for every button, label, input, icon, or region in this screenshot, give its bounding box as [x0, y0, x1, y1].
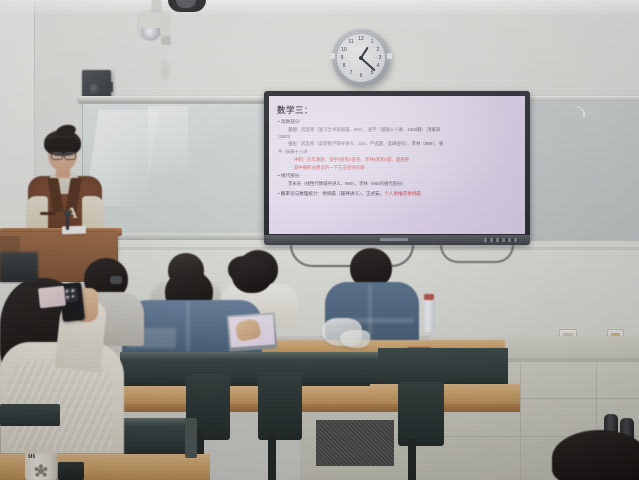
desk-row1-top [78, 386, 400, 406]
glasses-bridge [61, 154, 65, 155]
desk-row1-top-right [370, 384, 520, 406]
camera-knob [161, 36, 171, 45]
student-bottom-right-head [552, 430, 639, 480]
clock-numeral: 2 [374, 47, 382, 53]
plastic-bag-fold [340, 330, 370, 348]
slide-bullet-gailv: • 概率论与数理统计：余炳森（辅导讲义）、王式安，个人更推荐余炳森 [278, 191, 518, 197]
clock-numeral: 5 [368, 70, 376, 76]
presenter-pocket [40, 212, 56, 215]
clock-numeral: 10 [340, 47, 348, 53]
desk-row1-panel-highlight [120, 352, 380, 360]
tv-cable [440, 245, 514, 263]
whiteboard-hook-icon[interactable] [572, 105, 588, 119]
chair-leg [408, 438, 416, 480]
camera-lens-icon [64, 289, 69, 294]
desk-front-bracket [185, 418, 197, 458]
clock-numeral: 1 [368, 39, 376, 45]
equipment-box [0, 252, 38, 282]
clock-numeral: 6 [357, 73, 365, 79]
chair-back [398, 382, 444, 446]
slide-line: 宇（高数十八讲 [278, 149, 518, 155]
speaker-bracket [105, 82, 113, 92]
slide-line: 基础：武忠祥（复习全书基础篇、660）、张宇（基础十八讲、1000题）,汤家凤 [288, 127, 518, 133]
desk-mesh-basket [316, 420, 394, 466]
slide-title: 数学三： [277, 104, 518, 116]
bottle-cap [424, 294, 434, 300]
camera-lens-icon [71, 288, 76, 293]
presenter-fringe [46, 138, 79, 150]
water-bottle [423, 298, 435, 332]
whiteboard-right[interactable] [512, 101, 639, 241]
floor-seam [520, 362, 521, 480]
slide-line: 强化：武忠祥（高等数学辅导讲义、330、严选题、选填密码）、李林（880）、张 [288, 141, 518, 147]
slide-line: (1800) [278, 134, 518, 140]
clock-numeral: 11 [347, 39, 355, 45]
chair-back [258, 372, 302, 440]
clock-numeral: 8 [340, 63, 348, 69]
phone-screen-reflection [38, 286, 66, 309]
slide-bullet-xiandai: • 线代部分: [278, 173, 518, 179]
clock-mount-tab [387, 53, 392, 59]
camera-flash-icon [71, 295, 75, 299]
chair-front-back [58, 462, 84, 480]
glasses-icon [110, 276, 122, 284]
presentation-screen[interactable]: 数学三： • 高数部分: 基础：武忠祥（复习全书基础篇、660）、张宇（基础十八… [269, 96, 525, 234]
tumbler-graphic-icon [33, 464, 49, 478]
tv-brand-logo [380, 238, 408, 241]
desk-row1-edge-right [370, 404, 520, 412]
denim-seam [186, 302, 190, 352]
slide-bullet-gailv-highlight: 个人更推荐余炳森 [384, 191, 421, 196]
clock-mount-tab [330, 53, 335, 59]
wall-scuff [160, 60, 170, 80]
clock-numeral: 4 [374, 63, 382, 69]
clock-numeral: 12 [357, 36, 365, 42]
chair-leg [268, 432, 276, 480]
slide-content: 数学三： • 高数部分: 基础：武忠祥（复习全书基础篇、660）、张宇（基础十八… [269, 96, 525, 234]
tv-port-panel [484, 238, 518, 242]
microphone-head [64, 210, 71, 217]
clock-numeral: 7 [347, 70, 355, 76]
slide-bullet-gailv-label: • 概率论与数理统计：余炳森（辅导讲义）、王式安， [278, 191, 384, 196]
desk-front-left-panel [0, 404, 60, 426]
glasses-icon [64, 152, 76, 160]
ceiling-edge [0, 0, 639, 16]
classroom-photo: 12 1 2 3 4 5 6 7 8 9 10 11 数学三： • 高数部分: … [0, 0, 639, 480]
slide-line-highlighted: 其中微积分建议听一下方浩老师的课 [294, 165, 518, 171]
slide-line: 李永乐（线性代数辅导讲义、660）、李林（880的线代部分） [288, 181, 518, 187]
student-row2-right-head [236, 260, 272, 290]
whiteboard-glare [148, 106, 188, 176]
clock-center-pin [359, 56, 363, 60]
desk-row1-edge [78, 404, 400, 412]
camera-lens-icon [65, 295, 70, 300]
slide-line-highlighted: 冲刺：历年真题、张宇8套和4套卷、李林6套和4套、超越卷 [294, 157, 518, 163]
clock-numeral: 9 [338, 55, 346, 61]
speaker-cone [89, 84, 100, 95]
clock-numeral: 3 [376, 55, 384, 61]
slide-bullet-gaoshu: • 高数部分: [278, 119, 518, 125]
